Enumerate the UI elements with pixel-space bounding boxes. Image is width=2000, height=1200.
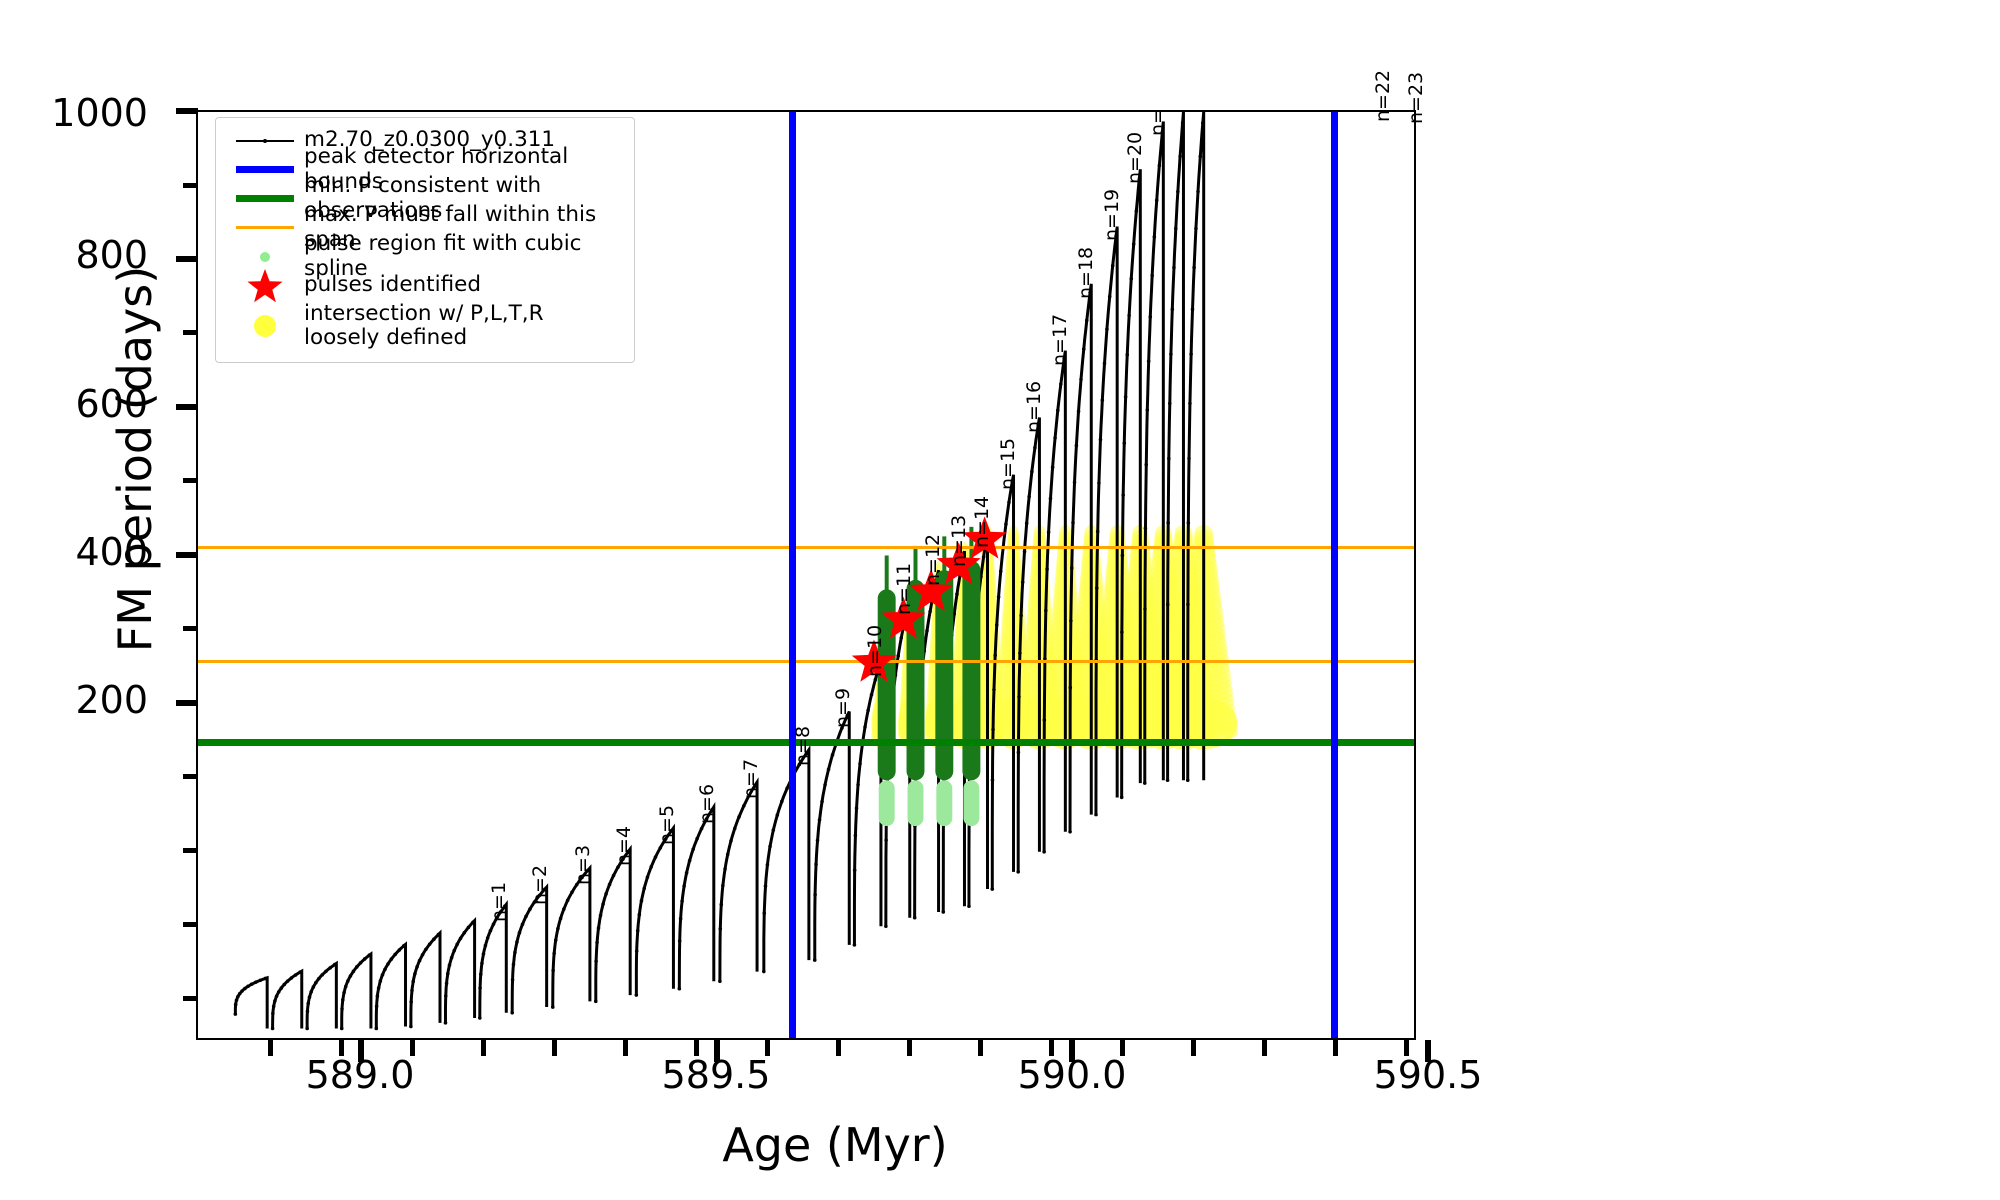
pulse-label-n11: n=11 bbox=[893, 563, 915, 615]
x-tick-mark bbox=[714, 1040, 720, 1062]
pulse-label-n19: n=19 bbox=[1101, 189, 1123, 241]
x-tick-mark bbox=[765, 1040, 770, 1056]
pulse-label-n12: n=12 bbox=[922, 534, 944, 586]
x-tick-mark bbox=[907, 1040, 912, 1056]
pulse-label-n3: n=3 bbox=[572, 845, 594, 885]
x-tick-mark bbox=[836, 1040, 841, 1056]
pulse-label-n14: n=14 bbox=[971, 496, 993, 548]
y-tick-mark bbox=[176, 256, 198, 262]
y-tick-mark bbox=[176, 700, 198, 706]
pulse-label-n7: n=7 bbox=[740, 759, 762, 799]
y-tick-1000: 1000 bbox=[0, 91, 148, 135]
legend-item-spline[interactable]: pulse region fit with cubic spline bbox=[226, 242, 624, 271]
x-tick-mark bbox=[481, 1040, 486, 1056]
red-star-key-icon bbox=[226, 271, 304, 300]
legend-item-intersection[interactable]: intersection w/ P,L,T,R loosely defined bbox=[226, 300, 624, 352]
y-tick-400: 400 bbox=[0, 530, 148, 574]
pulse-label-n9: n=9 bbox=[832, 688, 854, 728]
pulse-label-n2: n=2 bbox=[529, 864, 551, 904]
pulse-label-n21: n=21 bbox=[1147, 110, 1169, 136]
x-tick-mark bbox=[268, 1040, 273, 1056]
figure-root: FM period (days) Age (Myr) 1000 800 600 … bbox=[0, 0, 2000, 1200]
y-tick-mark bbox=[176, 552, 198, 558]
y-tick-200: 200 bbox=[0, 678, 148, 722]
pulse-label-n20: n=20 bbox=[1124, 131, 1146, 183]
legend: m2.70_z0.0300_y0.311 peak detector horiz… bbox=[215, 117, 635, 363]
pulse-label-n15: n=15 bbox=[997, 438, 1019, 490]
pulse-label-n22: n=22 bbox=[1372, 70, 1394, 122]
legend-label-pulses: pulses identified bbox=[304, 273, 481, 297]
x-tick-mark bbox=[1262, 1040, 1267, 1056]
x-axis-label: Age (Myr) bbox=[260, 1118, 1410, 1172]
pulse-label-n8: n=8 bbox=[792, 726, 814, 766]
model-line-key-icon bbox=[226, 126, 304, 155]
pulse-label-n13: n=13 bbox=[948, 515, 970, 567]
pulse-label-n1: n=1 bbox=[488, 882, 510, 922]
x-tick-mark bbox=[552, 1040, 557, 1056]
pulse-label-n17: n=17 bbox=[1049, 314, 1071, 366]
pulse-label-n23: n=23 bbox=[1405, 72, 1427, 124]
legend-label-intersection: intersection w/ P,L,T,R loosely defined bbox=[304, 302, 544, 350]
x-tick-mark bbox=[1191, 1040, 1196, 1056]
pulse-label-n5: n=5 bbox=[656, 805, 678, 845]
x-tick-mark bbox=[1120, 1040, 1125, 1056]
y-tick-mark bbox=[176, 108, 198, 114]
pulse-label-n6: n=6 bbox=[696, 784, 718, 824]
pulse-label-n18: n=18 bbox=[1075, 246, 1097, 298]
x-tick-mark bbox=[623, 1040, 628, 1056]
x-tick-mark bbox=[410, 1040, 415, 1056]
x-tick-mark bbox=[358, 1040, 364, 1062]
x-tick-mark bbox=[694, 1040, 699, 1056]
pulse-label-n16: n=16 bbox=[1023, 381, 1045, 433]
x-tick-mark bbox=[1425, 1040, 1431, 1062]
x-tick-mark bbox=[1333, 1040, 1338, 1056]
green-line-key-icon bbox=[226, 184, 304, 213]
y-tick-800: 800 bbox=[0, 233, 148, 277]
blue-line-key-icon bbox=[226, 155, 304, 184]
yellow-blob-key-icon bbox=[226, 312, 304, 341]
pulse-label-n10: n=10 bbox=[864, 625, 886, 677]
x-tick-mark bbox=[339, 1040, 344, 1056]
orange-line-key-icon bbox=[226, 213, 304, 242]
x-tick-mark bbox=[1049, 1040, 1054, 1056]
x-tick-mark bbox=[1069, 1040, 1075, 1062]
y-tick-mark bbox=[176, 404, 198, 410]
x-tick-mark bbox=[1404, 1040, 1409, 1056]
y-tick-600: 600 bbox=[0, 382, 148, 426]
x-tick-mark bbox=[978, 1040, 983, 1056]
pulse-label-n4: n=4 bbox=[613, 826, 635, 866]
